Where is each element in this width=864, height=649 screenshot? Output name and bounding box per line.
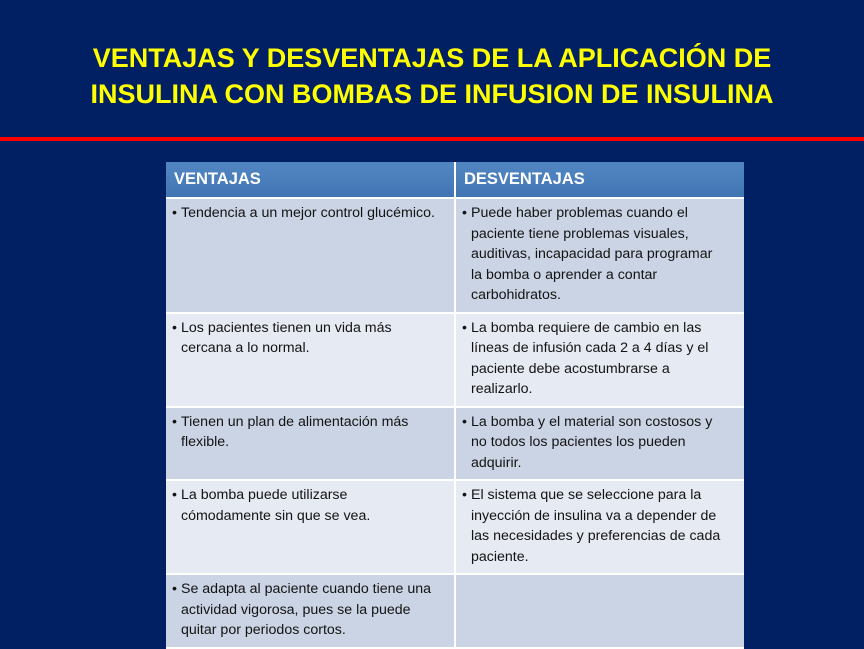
- cell-text: Tienen un plan de alimentación más flexi…: [181, 412, 448, 453]
- bullet-glyph: •: [172, 412, 180, 433]
- bullet-glyph: •: [172, 203, 180, 224]
- bullet-glyph: •: [462, 485, 470, 506]
- bullet-glyph: •: [172, 579, 180, 600]
- cell-text: La bomba y el material son costosos y no…: [471, 412, 738, 474]
- cell-desventaja-empty: [456, 575, 744, 649]
- cell-ventaja: • La bomba puede utilizarse cómodamente …: [166, 481, 456, 575]
- bullet-glyph: •: [172, 318, 180, 339]
- advantages-disadvantages-table: VENTAJAS DESVENTAJAS • Tendencia a un me…: [166, 162, 744, 649]
- table-row: • Los pacientes tienen un vida más cerca…: [166, 314, 744, 408]
- cell-text: Tendencia a un mejor control glucémico.: [181, 203, 448, 224]
- title-divider-rule: [0, 137, 864, 141]
- column-header-ventajas: VENTAJAS: [166, 162, 456, 199]
- cell-ventaja: • Se adapta al paciente cuando tiene una…: [166, 575, 456, 649]
- bullet-glyph: •: [462, 203, 470, 224]
- cell-desventaja: • La bomba requiere de cambio en las lín…: [456, 314, 744, 408]
- cell-ventaja: • Tienen un plan de alimentación más fle…: [166, 408, 456, 482]
- table-row: • La bomba puede utilizarse cómodamente …: [166, 481, 744, 575]
- table-row: • Tienen un plan de alimentación más fle…: [166, 408, 744, 482]
- cell-text: El sistema que se seleccione para la iny…: [471, 485, 738, 567]
- cell-text: La bomba requiere de cambio en las línea…: [471, 318, 738, 400]
- cell-desventaja: • Puede haber problemas cuando el pacien…: [456, 199, 744, 314]
- cell-desventaja: • El sistema que se seleccione para la i…: [456, 481, 744, 575]
- cell-text: Se adapta al paciente cuando tiene una a…: [181, 579, 448, 641]
- cell-ventaja: • Tendencia a un mejor control glucémico…: [166, 199, 456, 314]
- cell-ventaja: • Los pacientes tienen un vida más cerca…: [166, 314, 456, 408]
- bullet-glyph: •: [172, 485, 180, 506]
- cell-text: La bomba puede utilizarse cómodamente si…: [181, 485, 448, 526]
- table-header-row: VENTAJAS DESVENTAJAS: [166, 162, 744, 199]
- table-row: • Tendencia a un mejor control glucémico…: [166, 199, 744, 314]
- table-row: • Se adapta al paciente cuando tiene una…: [166, 575, 744, 649]
- bullet-glyph: •: [462, 318, 470, 339]
- cell-desventaja: • La bomba y el material son costosos y …: [456, 408, 744, 482]
- cell-text: Puede haber problemas cuando el paciente…: [471, 203, 738, 306]
- column-header-desventajas: DESVENTAJAS: [456, 162, 744, 199]
- page-title: VENTAJAS Y DESVENTAJAS DE LA APLICACIÓN …: [0, 40, 864, 112]
- cell-text: Los pacientes tienen un vida más cercana…: [181, 318, 448, 359]
- bullet-glyph: •: [462, 412, 470, 433]
